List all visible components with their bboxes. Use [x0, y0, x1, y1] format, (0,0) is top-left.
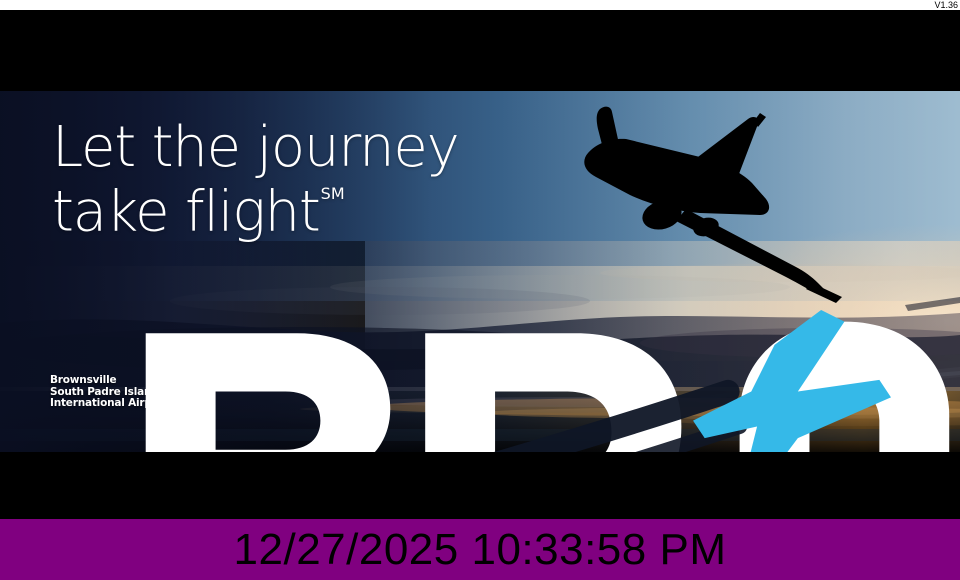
- letterbox-bottom: [0, 452, 960, 519]
- bro-wordmark-graphic: [50, 310, 960, 452]
- headline-line-2-wrapper: take flightSM: [52, 177, 344, 242]
- version-label: V1.36: [934, 1, 960, 10]
- flight-display-screen: V1.36: [0, 0, 960, 580]
- letterbox-top: [0, 10, 960, 91]
- airport-logo: Brownsville South Padre Island Internati…: [50, 310, 200, 410]
- datetime-status-bar: 12/27/2025 10:33:58 PM: [0, 519, 960, 580]
- promotional-banner: Let the journey take flightSM: [0, 91, 960, 452]
- banner-headline: Let the journey take flightSM: [52, 119, 459, 242]
- headline-line-2: take flight: [52, 180, 320, 245]
- service-mark: SM: [321, 184, 345, 203]
- headline-line-1: Let the journey: [52, 119, 459, 177]
- version-strip: V1.36: [0, 0, 960, 10]
- bro-logo-mark: [50, 310, 190, 372]
- datetime-text: 12/27/2025 10:33:58 PM: [234, 528, 727, 572]
